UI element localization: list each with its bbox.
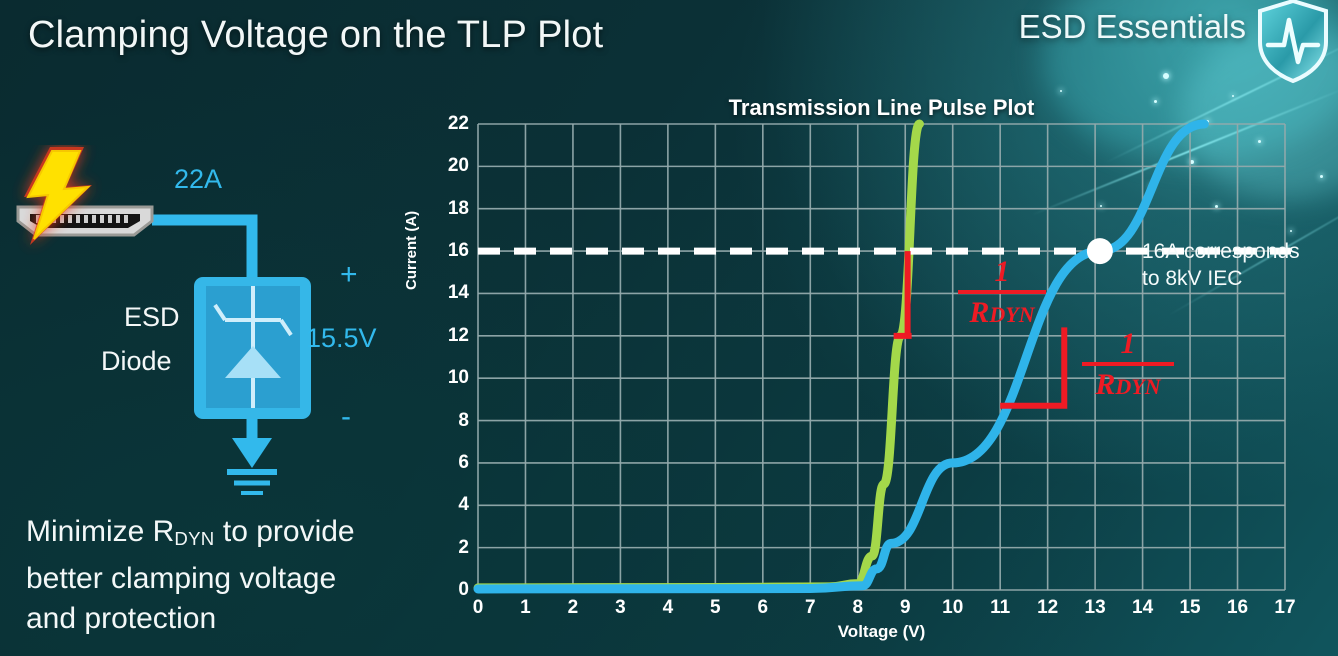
- polarity-minus: -: [341, 400, 351, 434]
- x-tick-label: 9: [900, 597, 911, 619]
- x-tick-label: 3: [615, 597, 626, 619]
- slope1-denominator-r: R: [969, 296, 989, 329]
- particle: [1163, 73, 1169, 79]
- x-axis-label: Voltage (V): [478, 622, 1285, 642]
- slope1-denominator-sub: DYN: [989, 302, 1034, 327]
- marker-note: 16A corresponds to 8kV IEC: [1142, 238, 1300, 292]
- y-tick-label: 16: [448, 240, 469, 262]
- y-tick-label: 0: [458, 579, 469, 601]
- marker-note-line1: 16A corresponds: [1142, 238, 1300, 265]
- summary-text: Minimize RDYN to provide better clamping…: [26, 512, 446, 639]
- marker-note-line2: to 8kV IEC: [1142, 265, 1300, 292]
- page-title: Clamping Voltage on the TLP Plot: [28, 14, 603, 57]
- y-tick-label: 4: [458, 494, 469, 516]
- summary-line2: better clamping voltage: [26, 562, 336, 595]
- y-tick-label: 6: [458, 452, 469, 474]
- particle: [1320, 175, 1323, 178]
- x-tick-label: 5: [710, 597, 721, 619]
- x-tick-label: 11: [990, 597, 1010, 619]
- y-tick-label: 14: [448, 282, 469, 304]
- y-tick-label: 2: [458, 537, 469, 559]
- x-tick-label: 2: [568, 597, 579, 619]
- y-tick-label: 8: [458, 410, 469, 432]
- x-tick-label: 1: [520, 597, 531, 619]
- shield-pulse-icon: [1254, 0, 1332, 84]
- slope-fraction-2: 1 RDYN: [1082, 327, 1174, 402]
- x-tick-label: 13: [1085, 597, 1106, 619]
- x-tick-label: 14: [1132, 597, 1153, 619]
- slope2-numerator: 1: [1082, 327, 1174, 361]
- y-tick-label: 20: [448, 155, 469, 177]
- summary-line1-sub: DYN: [174, 528, 214, 549]
- slope2-denominator-sub: DYN: [1115, 374, 1160, 399]
- y-tick-label: 18: [448, 198, 469, 220]
- y-tick-label: 10: [448, 367, 469, 389]
- particle: [1060, 90, 1062, 92]
- x-tick-label: 15: [1179, 597, 1200, 619]
- y-tick-label: 12: [448, 325, 469, 347]
- summary-line1-post: to provide: [215, 515, 355, 548]
- slope-fraction-1: 1 RDYN: [958, 255, 1046, 330]
- fraction-bar: [1082, 362, 1174, 366]
- fraction-bar: [958, 290, 1046, 294]
- x-tick-label: 12: [1037, 597, 1058, 619]
- slide-canvas: Clamping Voltage on the TLP Plot ESD Ess…: [0, 0, 1338, 656]
- device-label-line2: Diode: [101, 346, 172, 377]
- x-tick-label: 10: [942, 597, 963, 619]
- x-tick-label: 4: [663, 597, 674, 619]
- x-tick-label: 6: [758, 597, 769, 619]
- lightning-bolt-icon: [8, 145, 128, 255]
- particle: [1290, 230, 1292, 232]
- x-tick-label: 7: [805, 597, 816, 619]
- summary-line3: and protection: [26, 602, 216, 635]
- x-tick-label: 8: [852, 597, 863, 619]
- summary-line1-pre: Minimize R: [26, 515, 174, 548]
- current-label: 22A: [174, 164, 222, 195]
- voltage-label: 15.5V: [306, 323, 377, 354]
- polarity-plus: +: [340, 258, 358, 292]
- x-tick-label: 0: [473, 597, 484, 619]
- brand-label: ESD Essentials: [1019, 8, 1246, 46]
- slope2-denominator-r: R: [1095, 368, 1115, 401]
- y-tick-label: 22: [448, 113, 469, 135]
- y-axis-label: Current (A): [403, 211, 420, 290]
- x-tick-label: 17: [1274, 597, 1295, 619]
- slope1-denominator: RDYN: [958, 296, 1046, 330]
- slope2-denominator: RDYN: [1082, 368, 1174, 402]
- esd-circuit-diagram: 22A ESD Diode 15.5V + -: [0, 150, 420, 510]
- x-tick-label: 16: [1227, 597, 1248, 619]
- slope1-numerator: 1: [958, 255, 1046, 289]
- chart-title: Transmission Line Pulse Plot: [478, 95, 1285, 121]
- device-label-line1: ESD: [124, 302, 180, 333]
